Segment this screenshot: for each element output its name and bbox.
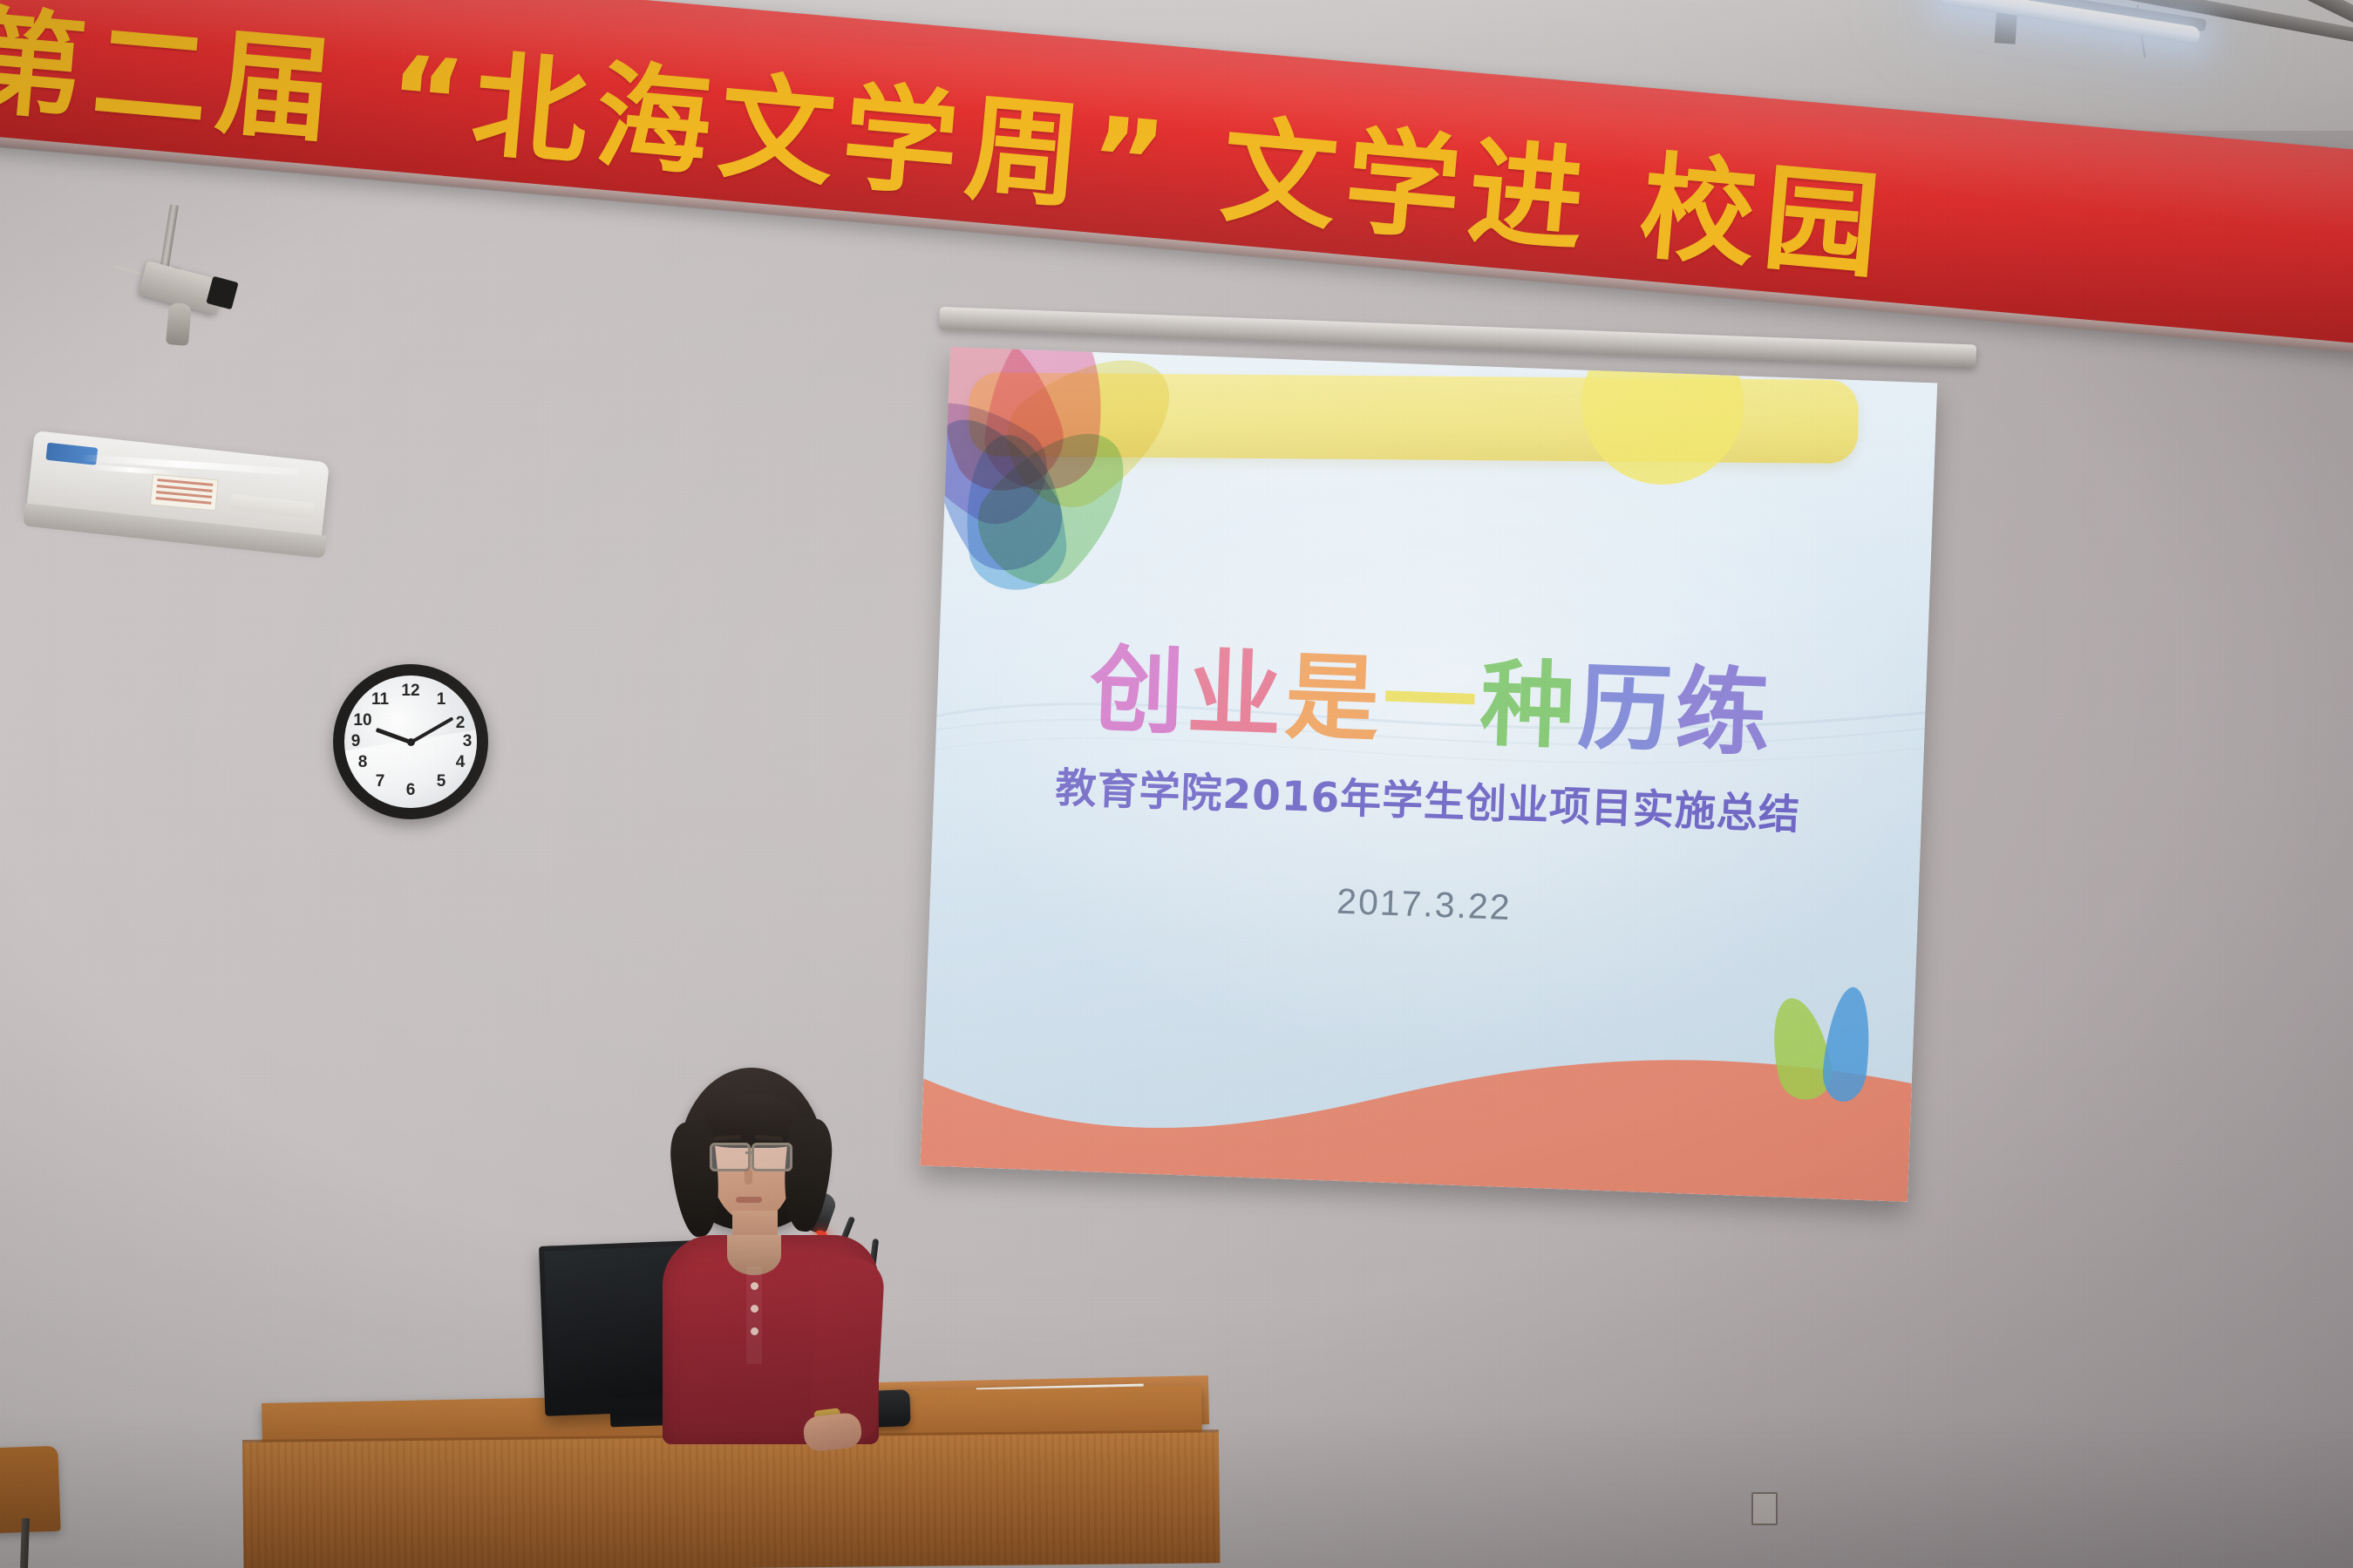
clock-center-pin xyxy=(407,738,415,746)
clock-number: 12 xyxy=(401,682,420,699)
clock-number: 1 xyxy=(432,691,451,708)
clock-number: 7 xyxy=(371,773,390,790)
presenter xyxy=(624,1068,912,1442)
mouth xyxy=(736,1197,762,1203)
slide-coral-wave xyxy=(921,948,1915,1202)
slide-petal-fan-decoration xyxy=(921,347,1235,617)
glasses-lens xyxy=(751,1143,792,1171)
wooden-lectern xyxy=(242,1432,1221,1568)
slide-title-char: 创 xyxy=(1088,614,1191,753)
clock-number: 6 xyxy=(401,782,420,798)
camera-bracket xyxy=(166,302,192,346)
clock-face: 12 1 2 3 4 5 6 7 8 9 10 11 xyxy=(344,675,477,808)
chair-back xyxy=(0,1446,61,1534)
slide-title-char: 历 xyxy=(1575,632,1678,771)
ac-highlight xyxy=(81,454,299,476)
shirt-button xyxy=(751,1305,758,1313)
glasses-lens xyxy=(710,1143,751,1171)
clock-number: 8 xyxy=(353,754,372,770)
slide-title-char: 业 xyxy=(1186,617,1289,757)
projection-screen: 创业是一种历练 教育学院2016年学生创业项目实施总结 2017.3.22 xyxy=(921,347,1938,1202)
slide-title-char: 是 xyxy=(1282,621,1385,760)
clock-number: 4 xyxy=(451,754,470,770)
slide-title-char: 种 xyxy=(1478,628,1581,768)
slide-title-char: 一 xyxy=(1380,625,1483,764)
wall-socket xyxy=(1751,1492,1778,1525)
clock-number: 2 xyxy=(451,715,470,731)
slide-bottom-petals xyxy=(1770,984,1905,1102)
clock-number: 10 xyxy=(353,712,372,729)
clock-hour-hand xyxy=(376,728,411,744)
ac-display-panel xyxy=(230,494,315,519)
petal xyxy=(1819,985,1875,1104)
clock-number: 9 xyxy=(346,733,365,750)
glasses-bridge xyxy=(745,1151,753,1154)
shirt-button xyxy=(751,1327,758,1335)
ac-label-sticker xyxy=(150,474,219,512)
clock-number: 5 xyxy=(432,773,451,790)
clock-number: 3 xyxy=(458,733,477,750)
slide-title-char: 练 xyxy=(1673,635,1776,775)
wood-grain xyxy=(242,1432,1221,1568)
shirt-button xyxy=(751,1282,758,1290)
photo-scene: 第二届 “北海文学周” 文学进 校园 12 1 2 3 4 5 6 7 8 9 … xyxy=(0,0,2353,1568)
wall-clock: 12 1 2 3 4 5 6 7 8 9 10 11 xyxy=(333,664,488,819)
shirt-placket xyxy=(746,1266,762,1364)
clock-number: 11 xyxy=(371,691,390,708)
nose xyxy=(745,1169,752,1184)
